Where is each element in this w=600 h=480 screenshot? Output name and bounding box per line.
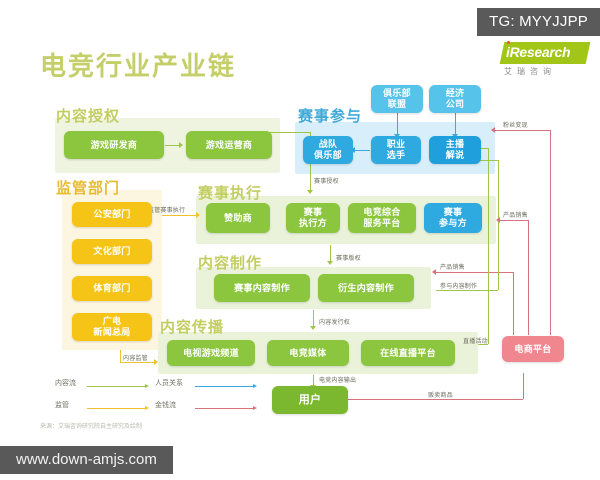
connector-economic-down — [455, 113, 456, 136]
connector-ecommerce-up-far — [550, 130, 551, 335]
flow-label-live-activity: 直播活动 — [463, 336, 488, 345]
connector-player-to-club — [354, 150, 370, 151]
tg-watermark: TG: MYYJJPP — [477, 8, 600, 36]
node-event-content-production[interactable]: 赛事内容制作 — [214, 274, 310, 302]
connector-ecommerce-up-mid — [528, 220, 529, 335]
node-live-platform[interactable]: 在线直播平台 — [361, 340, 455, 366]
node-user[interactable]: 用户 — [272, 386, 348, 414]
arrowhead-product-sales-top — [496, 217, 500, 223]
connector-regulate-event — [162, 215, 198, 216]
logo-dot-icon — [507, 41, 510, 44]
arrowhead-event-copyright — [327, 261, 333, 265]
connector-product-sales-top — [500, 220, 528, 221]
connector-regulation-down — [120, 350, 121, 362]
arrowhead-product-sales-mid — [432, 269, 436, 275]
connector-fan-monetization — [495, 130, 550, 131]
arrowhead-fan-monetization — [491, 127, 495, 133]
logo-wordmark: iResearch — [506, 44, 570, 60]
flow-label-content-regulation: 内容监管 — [123, 353, 148, 362]
node-esports-platform[interactable]: 电竞综合 服务平台 — [348, 203, 416, 233]
legend-arrow-regulation — [145, 406, 149, 410]
legend-label-money-flow: 金钱流 — [155, 400, 176, 410]
legend: 内容流 人员关系 监管 金钱流 — [55, 378, 255, 420]
node-tv-game-channel[interactable]: 电视游戏频道 — [167, 340, 255, 366]
connector-sell-goods-vert — [523, 373, 524, 399]
node-public-security[interactable]: 公安部门 — [72, 202, 152, 227]
node-esports-media[interactable]: 电竞媒体 — [267, 340, 349, 366]
legend-label-people-relation: 人员关系 — [155, 378, 183, 388]
flow-label-event-copyright: 赛事版权 — [336, 253, 361, 262]
connector-sell-goods — [345, 399, 523, 400]
flow-label-event-authorization: 赛事授权 — [314, 176, 339, 185]
section-label-event-participation: 赛事参与 — [298, 105, 362, 126]
node-event-executor[interactable]: 赛事 执行方 — [286, 203, 340, 233]
logo-subtitle: 艾瑞咨询 — [504, 66, 556, 77]
node-game-developer[interactable]: 游戏研发商 — [64, 131, 164, 159]
node-sarft[interactable]: 广电 新闻总局 — [72, 313, 152, 341]
section-label-event-execution: 赛事执行 — [198, 182, 262, 203]
legend-label-content-flow: 内容流 — [55, 378, 76, 388]
arrowhead-content-regulation — [154, 359, 158, 365]
connector-dev-to-operator — [165, 145, 179, 146]
connector-ecommerce-up-near — [513, 272, 514, 335]
legend-arrow-content-flow — [145, 384, 149, 388]
source-note: 来源：艾瑞咨询研究院自主研究及绘制 — [40, 421, 142, 430]
arrowhead-dev-to-operator — [179, 142, 183, 148]
node-sponsor[interactable]: 赞助商 — [206, 203, 270, 233]
flow-label-product-sales-mid: 产品销售 — [440, 262, 465, 271]
section-label-regulatory: 监管部门 — [56, 177, 120, 198]
site-watermark: www.down-amjs.com — [0, 446, 173, 474]
arrowhead-content-distribution-right — [310, 326, 316, 330]
legend-arrow-money-flow — [253, 406, 257, 410]
node-ecommerce-platform[interactable]: 电商平台 — [502, 336, 564, 362]
flow-label-regulate-event: 监管赛事执行 — [148, 205, 185, 214]
flow-label-product-sales-top: 产品销售 — [503, 210, 528, 219]
connector-alliance-down — [397, 113, 398, 136]
flow-label-fan-monetization: 粉丝变现 — [503, 120, 528, 129]
legend-line-money-flow — [195, 408, 253, 409]
arrowhead-event-authorization — [307, 190, 313, 194]
node-game-operator[interactable]: 游戏运营商 — [186, 131, 272, 159]
legend-arrow-people-relation — [253, 384, 257, 388]
node-team-club[interactable]: 战队 俱乐部 — [303, 136, 353, 164]
infographic-canvas: TG: MYYJJPP www.down-amjs.com 电竞行业产业链 iR… — [0, 0, 600, 480]
connector-participate-vert — [498, 160, 499, 290]
section-label-content-authorization: 内容授权 — [56, 105, 120, 126]
legend-line-regulation — [87, 408, 145, 409]
connector-product-sales-mid — [436, 272, 513, 273]
arrowhead-regulate-event — [196, 212, 200, 218]
iresearch-logo: iResearch 艾瑞咨询 — [496, 42, 588, 80]
node-economic-company[interactable]: 经济 公司 — [429, 85, 481, 113]
section-label-content-distribution: 内容传播 — [160, 316, 224, 337]
page-title: 电竞行业产业链 — [40, 46, 236, 83]
legend-label-regulation: 监管 — [55, 400, 69, 410]
node-anchor-caster[interactable]: 主播 解说 — [429, 136, 481, 164]
node-club-alliance[interactable]: 俱乐部 联盟 — [371, 85, 423, 113]
node-culture-dept[interactable]: 文化部门 — [72, 239, 152, 264]
connector-content-regulation — [120, 362, 156, 363]
flow-label-content-distribution-right: 内容发行权 — [319, 317, 350, 326]
node-derivative-content-production[interactable]: 衍生内容制作 — [318, 274, 414, 302]
legend-line-content-flow — [87, 386, 145, 387]
flow-label-participate-content-prod: 参与内容制作 — [440, 281, 477, 290]
section-label-content-production: 内容制作 — [198, 252, 262, 273]
connector-live-activity-vert — [488, 148, 489, 344]
node-pro-player[interactable]: 职业 选手 — [371, 136, 421, 164]
node-sports-dept[interactable]: 体育部门 — [72, 276, 152, 301]
flow-label-sell-goods: 贩卖商品 — [428, 390, 453, 399]
flow-label-esports-content-output: 电竞内容输出 — [319, 375, 356, 384]
legend-line-people-relation — [195, 386, 253, 387]
node-event-participant[interactable]: 赛事 参与方 — [424, 203, 482, 233]
